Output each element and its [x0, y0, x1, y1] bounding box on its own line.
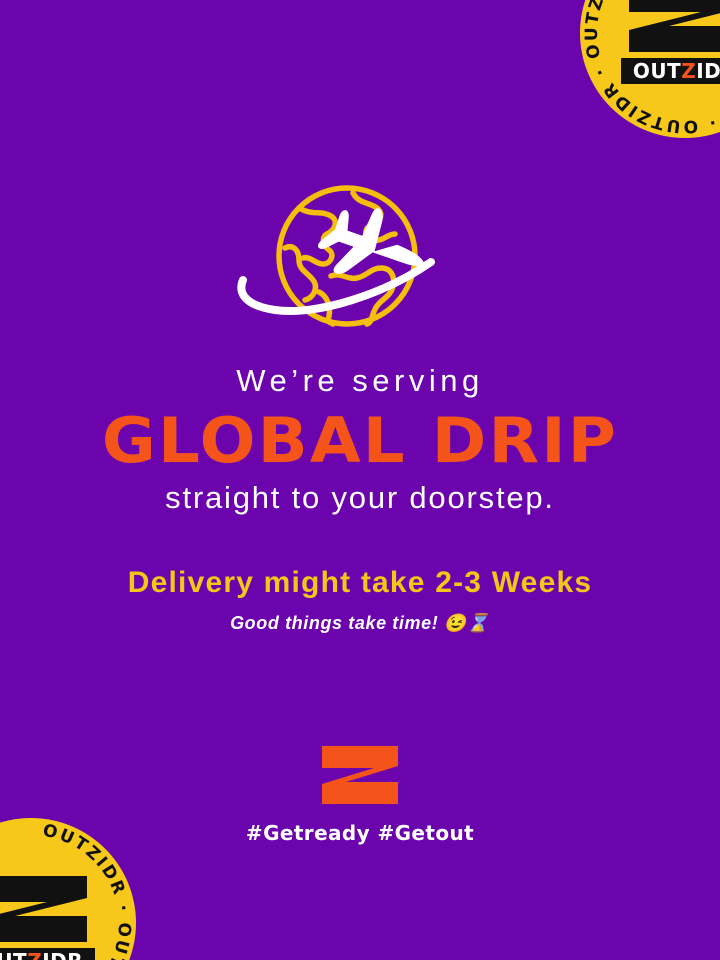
outzidr-z-icon	[320, 744, 400, 806]
badge-wordmark-bottom-left: OUTZIDR	[0, 948, 95, 960]
badge-top-right: OUTZIDR · OUTZIDR · OUTZIDR · OUTZIDR · …	[580, 0, 720, 138]
outzidr-z-icon	[0, 872, 95, 946]
badge-wordmark-z: Z	[681, 59, 696, 83]
subline-text: straight to your doorstep.	[0, 478, 720, 518]
badge-wordmark-lead: OUT	[633, 59, 681, 83]
kicker-text: We’re serving	[0, 362, 720, 400]
poster-canvas: OUTZIDR · OUTZIDR · OUTZIDR · OUTZIDR · …	[0, 0, 720, 960]
hashtags-text: #Getready #Getout	[0, 821, 720, 845]
badge-core-top-right: OUTZIDR	[621, 0, 720, 84]
globe-airplane-icon	[235, 176, 485, 346]
badge-wordmark-z: Z	[27, 949, 42, 960]
badge-wordmark-tail: IDR	[42, 949, 83, 960]
delivery-note-text: Good things take time! 😉⌛	[0, 610, 720, 636]
badge-wordmark-lead: OUT	[0, 949, 27, 960]
badge-core-bottom-left: OUTZIDR	[0, 872, 95, 960]
footer-block: #Getready #Getout	[0, 744, 720, 845]
outzidr-z-icon	[621, 0, 720, 56]
copy-block: We’re serving GLOBAL DRIP straight to yo…	[0, 362, 720, 636]
delivery-estimate-text: Delivery might take 2-3 Weeks	[0, 564, 720, 602]
badge-wordmark-tail: IDR	[696, 59, 720, 83]
hero-illustration	[0, 176, 720, 346]
badge-wordmark-top-right: OUTZIDR	[621, 58, 720, 84]
headline-text: GLOBAL DRIP	[0, 406, 720, 476]
brand-logo	[320, 744, 400, 806]
